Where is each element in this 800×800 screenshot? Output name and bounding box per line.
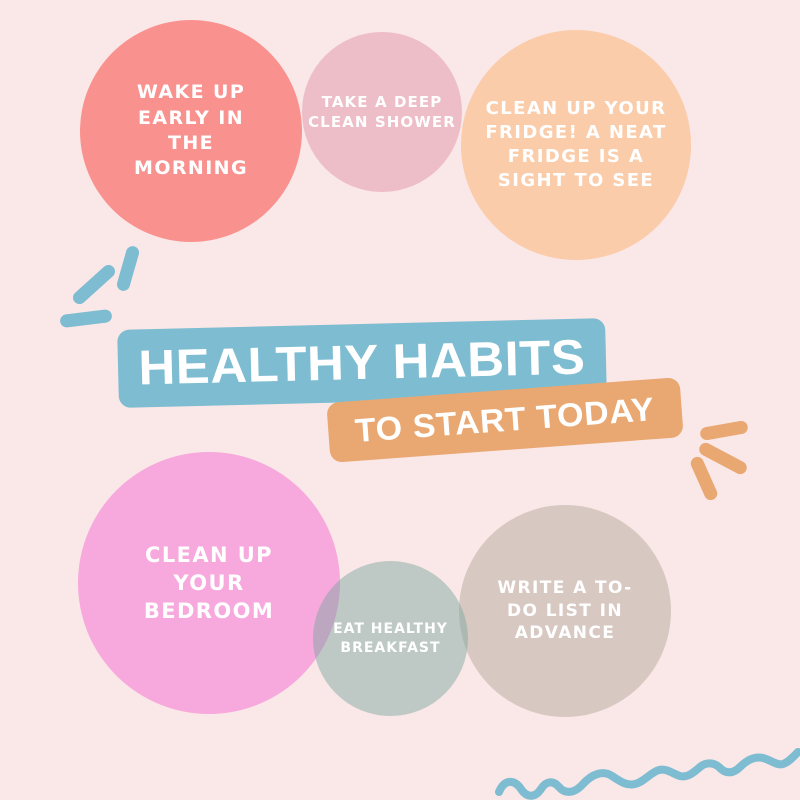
habit-circle-deep-clean-shower: TAKE A DEEP CLEAN SHOWER bbox=[302, 32, 462, 192]
habit-label-todo-list: WRITE A TO- DO LIST IN ADVANCE bbox=[497, 577, 632, 645]
title-block: HEALTHY HABITS TO START TODAY bbox=[0, 318, 800, 478]
habit-label-wake-up-early: WAKE UP EARLY IN THE MORNING bbox=[134, 80, 248, 182]
habit-circle-clean-bedroom: CLEAN UP YOUR BEDROOM bbox=[78, 452, 340, 714]
habit-circle-clean-fridge: CLEAN UP YOUR FRIDGE! A NEAT FRIDGE IS A… bbox=[461, 30, 691, 260]
wavy-line-icon bbox=[495, 748, 800, 800]
healthy-habits-poster: WAKE UP EARLY IN THE MORNING CLEAN UP YO… bbox=[0, 0, 800, 800]
habit-circle-wake-up-early: WAKE UP EARLY IN THE MORNING bbox=[80, 20, 302, 242]
habit-circle-healthy-breakfast: EAT HEALTHY BREAKFAST bbox=[313, 561, 468, 716]
habit-label-healthy-breakfast: EAT HEALTHY BREAKFAST bbox=[333, 620, 448, 658]
habit-circle-todo-list: WRITE A TO- DO LIST IN ADVANCE bbox=[459, 505, 671, 717]
blue-dash-icon-2 bbox=[70, 262, 117, 306]
page-subtitle: TO START TODAY bbox=[354, 390, 656, 450]
blue-dash-icon-3 bbox=[115, 245, 140, 293]
habit-label-clean-fridge: CLEAN UP YOUR FRIDGE! A NEAT FRIDGE IS A… bbox=[485, 97, 666, 193]
habit-label-clean-bedroom: CLEAN UP YOUR BEDROOM bbox=[144, 541, 274, 625]
habit-label-deep-clean-shower: TAKE A DEEP CLEAN SHOWER bbox=[308, 92, 456, 132]
page-title: HEALTHY HABITS bbox=[138, 330, 586, 397]
